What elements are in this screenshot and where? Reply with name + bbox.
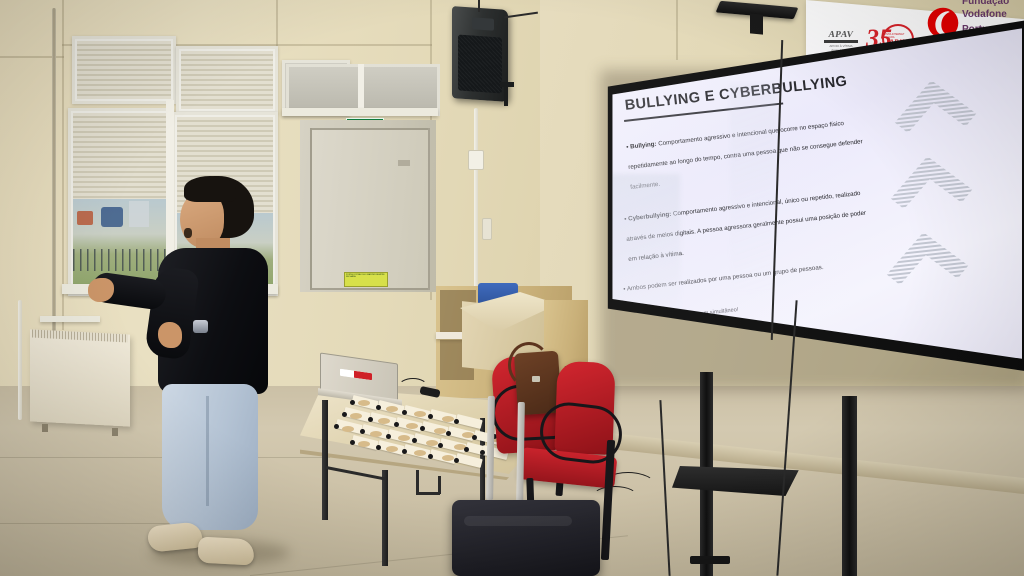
speaker-grille (458, 34, 502, 93)
slide-bullet-1-term: • Bullying: (626, 141, 657, 151)
display-table-hook (416, 470, 419, 494)
wall-pipe (18, 300, 22, 420)
fire-door-panel (310, 128, 430, 290)
apav-logo-bar (824, 40, 858, 43)
vodafone-logo-line1: Fundação (962, 0, 1009, 7)
presenter-wristwatch (193, 320, 208, 333)
fire-door-sticker-text: PORTA CORTA-FOGO MANTER SEMPRE FECHADA (345, 273, 387, 279)
chevron-up-icon (880, 225, 973, 300)
rolling-suitcase[interactable] (452, 500, 600, 576)
jeans-seam (206, 396, 209, 506)
speaker-cable (478, 0, 480, 12)
wall-socket (468, 150, 484, 170)
tv-stand-foot (690, 556, 730, 564)
wall-seam (62, 0, 64, 330)
screen-reflection (730, 84, 776, 294)
chevron-up-icon (884, 149, 977, 224)
apav-logo-word: APAV (823, 30, 858, 39)
presentation-room-scene: PORTA CORTA-FOGO MANTER SEMPRE FECHADA A… (0, 0, 1024, 576)
bag-buckle (532, 376, 540, 382)
window-transom-left (72, 36, 176, 104)
chevron-graphic-1 (888, 73, 981, 153)
chevron-graphic-3 (880, 225, 973, 305)
display-table-leg (322, 400, 328, 520)
presenter-beard (184, 228, 192, 238)
door-lintel (282, 108, 438, 116)
door-transom-mullion (358, 64, 364, 110)
wall-socket (482, 218, 492, 240)
tv-stand-post-right (842, 396, 857, 576)
display-table-leg (382, 470, 388, 566)
door-label (398, 160, 410, 166)
screen-reflection (610, 174, 680, 314)
chevron-graphic-2 (884, 149, 977, 229)
speaker-bracket (504, 84, 508, 106)
chevron-up-icon (888, 73, 981, 148)
wall-ledge (40, 316, 100, 322)
wall-seam (676, 0, 678, 60)
slide-bullet-2-term: • Cyberbullying: (624, 211, 672, 223)
speaker-horn (472, 17, 494, 31)
slide-bullet-3-line-1: • Ambos podem ser realizados por uma pes… (623, 264, 824, 293)
slide-bullet-3-term: • Ambos podem (623, 281, 667, 293)
wall-conduit (474, 108, 478, 298)
slide-bullet-1-line-3: facilmente. (630, 181, 661, 191)
fire-door-sticker: PORTA CORTA-FOGO MANTER SEMPRE FECHADA (344, 272, 388, 287)
leather-bag-strap (508, 342, 550, 388)
presenter-shoe-right (197, 537, 254, 566)
vodafone-logo-line2: Vodafone (962, 9, 1007, 20)
slide-bullet-3-text-1: ser realizados por uma pessoa ou um grup… (668, 264, 824, 288)
presenter-hair-front (184, 176, 236, 202)
display-table-hook (416, 492, 440, 495)
presenter-jeans (162, 384, 258, 530)
window-transom-right (176, 46, 278, 114)
suitcase-seam (464, 516, 572, 526)
slide-bullet-2-line-3: em relação à vítima. (628, 250, 684, 263)
mouse-cable (398, 378, 428, 396)
camera-mount-neck (750, 13, 763, 34)
wall-heater-foot (112, 428, 118, 436)
presenter-hand-near (158, 322, 182, 348)
wall-heater-foot (42, 424, 48, 432)
wall-heater (30, 329, 130, 426)
window-pole (52, 8, 56, 338)
display-table-hook (438, 476, 441, 494)
